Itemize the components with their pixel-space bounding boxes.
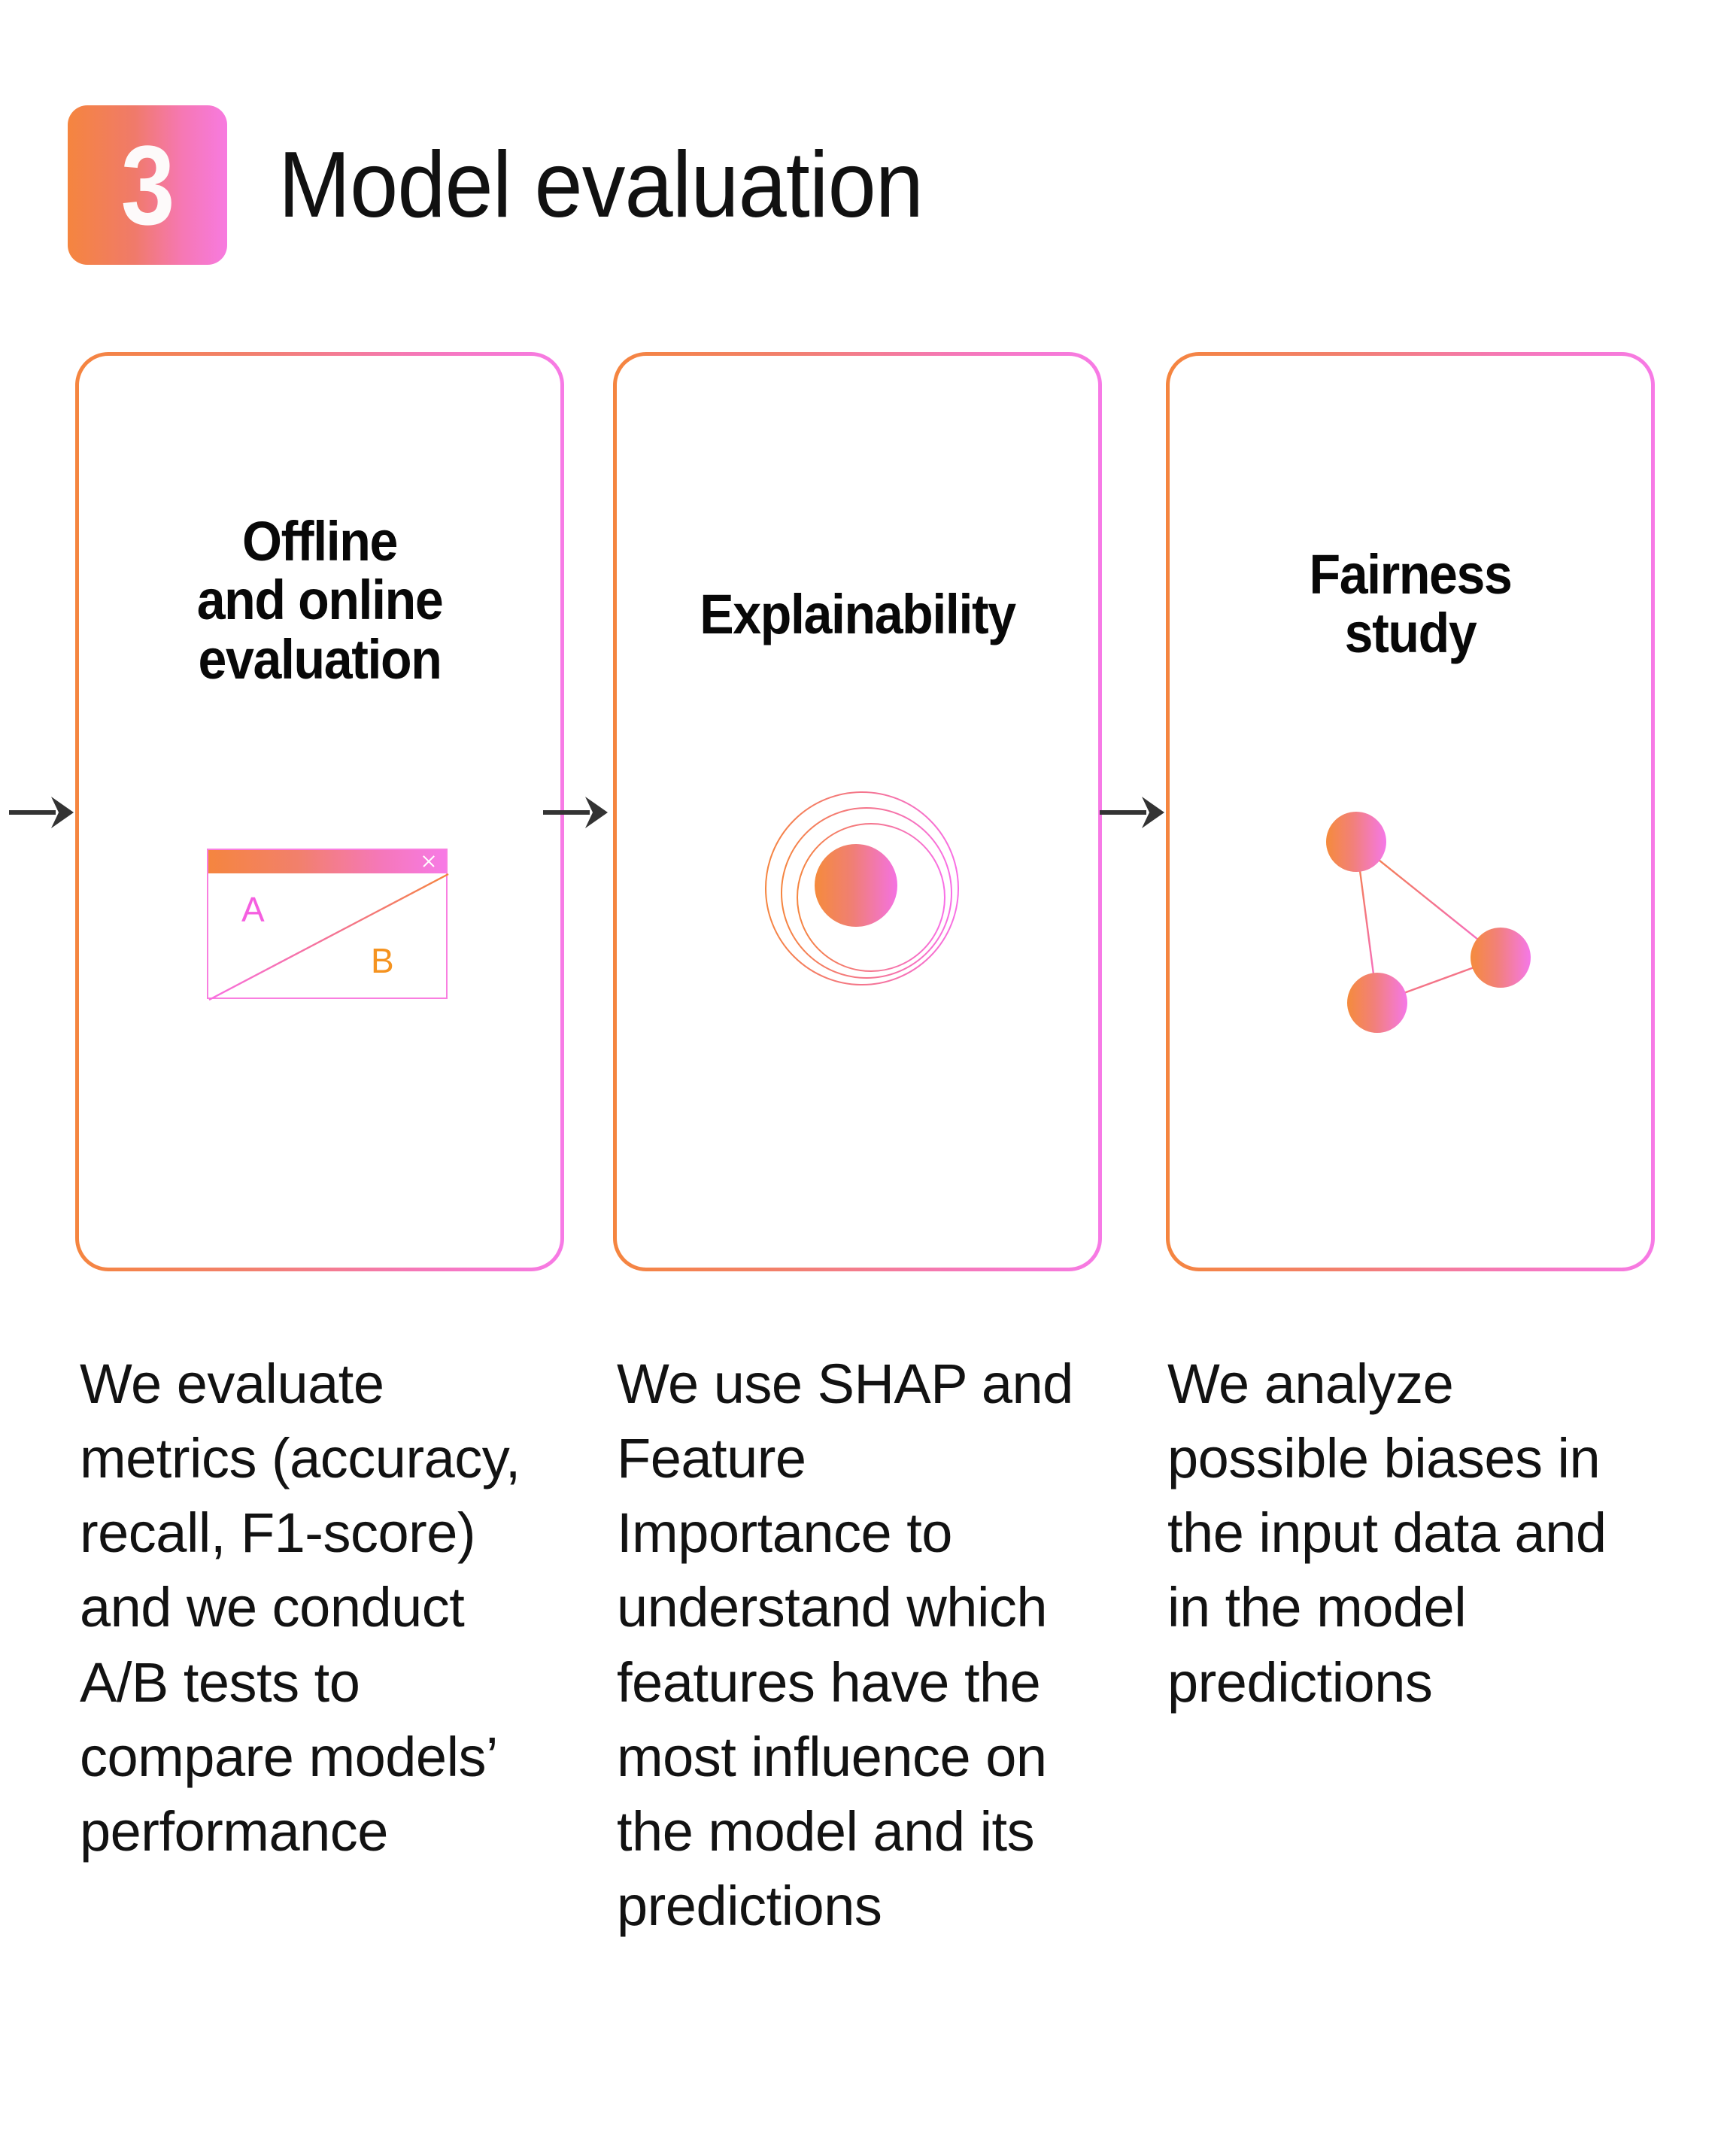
card-heading-fairness-study: Fairness study xyxy=(1189,545,1632,664)
network-node-1 xyxy=(1326,812,1386,872)
ab-window-frame: A B xyxy=(207,849,448,999)
card-heading-offline-online-evaluation: Offline and online evaluation xyxy=(99,512,542,689)
ab-window-titlebar xyxy=(208,850,446,873)
description-fairness-study: We analyze possible biases in the input … xyxy=(1167,1347,1649,1720)
descriptions-row: We evaluate metrics (accuracy, recall, F… xyxy=(0,1347,1724,2136)
step-number-badge: 3 xyxy=(68,105,227,265)
network-node-2 xyxy=(1347,973,1407,1033)
card-explainability[interactable]: Explainability xyxy=(613,352,1102,1271)
flow-arrow-1 xyxy=(9,792,74,833)
description-explainability: We use SHAP and Feature Importance to un… xyxy=(617,1347,1083,1943)
cards-row: Offline and online evaluation xyxy=(0,352,1724,1277)
flow-arrow-2 xyxy=(543,792,608,833)
card-offline-online-evaluation[interactable]: Offline and online evaluation xyxy=(75,352,564,1271)
flow-arrow-3 xyxy=(1100,792,1164,833)
ab-label-b: B xyxy=(371,943,394,978)
card-fairness-study[interactable]: Fairness study xyxy=(1166,352,1655,1271)
step-number-label: 3 xyxy=(121,129,174,241)
ab-label-a: A xyxy=(241,892,265,927)
network-node-3 xyxy=(1471,928,1531,988)
description-offline-online-evaluation: We evaluate metrics (accuracy, recall, F… xyxy=(80,1347,552,1869)
close-icon[interactable] xyxy=(420,852,438,871)
page-title: Model evaluation xyxy=(278,138,923,232)
page-header: 3 Model evaluation xyxy=(68,105,972,265)
card-heading-explainability: Explainability xyxy=(636,585,1079,644)
